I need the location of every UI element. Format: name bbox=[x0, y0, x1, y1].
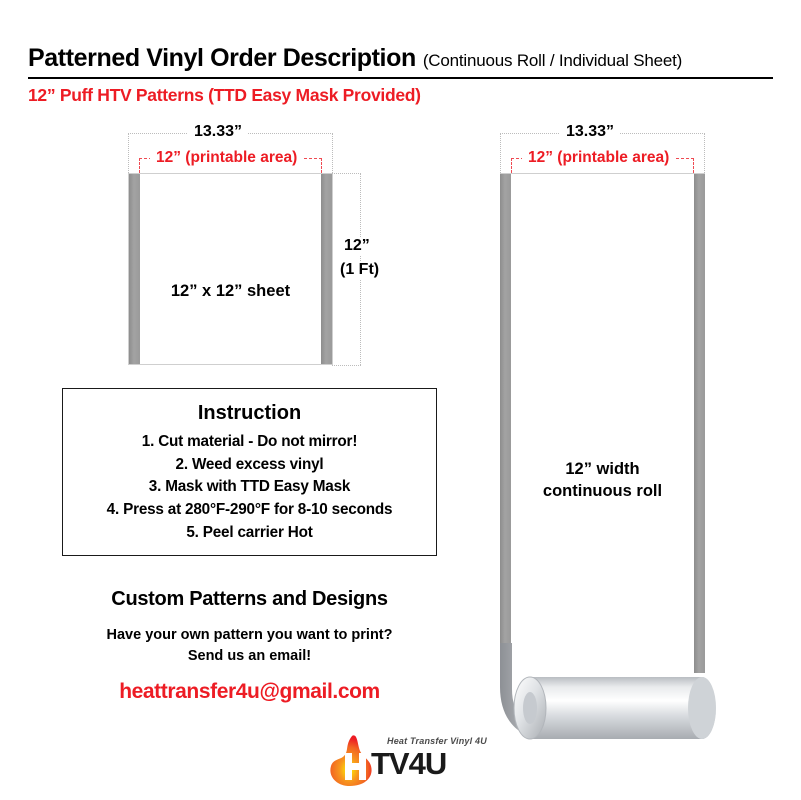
custom-subtext-line1: Have your own pattern you want to print? bbox=[107, 627, 393, 643]
roll-size-label-line2: continuous roll bbox=[543, 482, 662, 500]
instruction-title: Instruction bbox=[63, 402, 436, 425]
roll-outer-tick-right bbox=[704, 133, 705, 173]
sheet-height-tick-top bbox=[332, 173, 361, 174]
roll-far-cap bbox=[688, 677, 716, 739]
sheet-diagram: 13.33” 12” (printable area) 12” x 12” sh… bbox=[110, 125, 380, 375]
instruction-step: 2. Weed excess vinyl bbox=[63, 454, 436, 477]
sheet-right-margin-bar bbox=[321, 174, 332, 364]
roll-outer-dimension-label: 13.33” bbox=[560, 123, 620, 141]
roll-diagram: 13.33” 12” (printable area) 12” width co… bbox=[490, 125, 730, 725]
product-heading: 12” Puff HTV Patterns (TTD Easy Mask Pro… bbox=[28, 85, 773, 106]
sheet-outer-dimension-label: 13.33” bbox=[188, 123, 248, 141]
brand-logo: Heat Transfer Vinyl 4U TV4U bbox=[325, 733, 495, 789]
flame-icon bbox=[325, 735, 377, 787]
roll-body: 12” width continuous roll bbox=[500, 173, 705, 673]
logo-wordmark: TV4U bbox=[371, 746, 446, 782]
instruction-step: 3. Mask with TTD Easy Mask bbox=[63, 476, 436, 499]
sheet-height-tick-bottom bbox=[332, 365, 361, 366]
sheet-left-margin-bar bbox=[129, 174, 140, 364]
title-row: Patterned Vinyl Order Description (Conti… bbox=[28, 44, 773, 73]
page-title: Patterned Vinyl Order Description bbox=[28, 44, 416, 73]
sheet-printable-tick-right bbox=[321, 158, 322, 173]
roll-core-hole bbox=[523, 692, 537, 724]
roll-left-margin-bar bbox=[500, 174, 511, 673]
roll-right-margin-bar bbox=[694, 174, 705, 673]
page-subtitle: (Continuous Roll / Individual Sheet) bbox=[423, 51, 682, 71]
roll-cylinder-icon bbox=[490, 643, 730, 763]
roll-size-label-line1: 12” width bbox=[565, 460, 639, 478]
roll-printable-dimension-label: 12” (printable area) bbox=[522, 149, 675, 167]
custom-subtext-line2: Send us an email! bbox=[188, 648, 311, 664]
sheet-outer-tick-right bbox=[332, 133, 333, 173]
contact-email[interactable]: heattransfer4u@gmail.com bbox=[62, 680, 437, 704]
sheet-height-label-line1: 12” bbox=[338, 237, 376, 255]
instruction-step: 1. Cut material - Do not mirror! bbox=[63, 431, 436, 454]
sheet-printable-tick-left bbox=[139, 158, 140, 173]
custom-patterns-subtext: Have your own pattern you want to print?… bbox=[62, 625, 437, 667]
sheet-body: 12” x 12” sheet bbox=[128, 173, 333, 365]
sheet-height-label-line2: (1 Ft) bbox=[334, 261, 385, 279]
custom-patterns-title: Custom Patterns and Designs bbox=[62, 588, 437, 611]
sheet-size-label: 12” x 12” sheet bbox=[129, 282, 332, 301]
instruction-box: Instruction 1. Cut material - Do not mir… bbox=[62, 388, 437, 556]
instruction-step: 4. Press at 280°F-290°F for 8-10 seconds bbox=[63, 499, 436, 522]
instruction-step: 5. Peel carrier Hot bbox=[63, 522, 436, 545]
roll-printable-tick-right bbox=[693, 158, 694, 173]
instruction-step-list: 1. Cut material - Do not mirror! 2. Weed… bbox=[63, 431, 436, 544]
roll-printable-tick-left bbox=[511, 158, 512, 173]
roll-outer-tick-left bbox=[500, 133, 501, 173]
title-divider bbox=[28, 77, 773, 79]
sheet-outer-tick-left bbox=[128, 133, 129, 173]
logo-tagline: Heat Transfer Vinyl 4U bbox=[387, 736, 487, 746]
sheet-printable-dimension-label: 12” (printable area) bbox=[150, 149, 303, 167]
header: Patterned Vinyl Order Description (Conti… bbox=[28, 44, 773, 106]
custom-patterns-block: Custom Patterns and Designs Have your ow… bbox=[62, 588, 437, 704]
roll-size-label: 12” width continuous roll bbox=[500, 459, 705, 503]
